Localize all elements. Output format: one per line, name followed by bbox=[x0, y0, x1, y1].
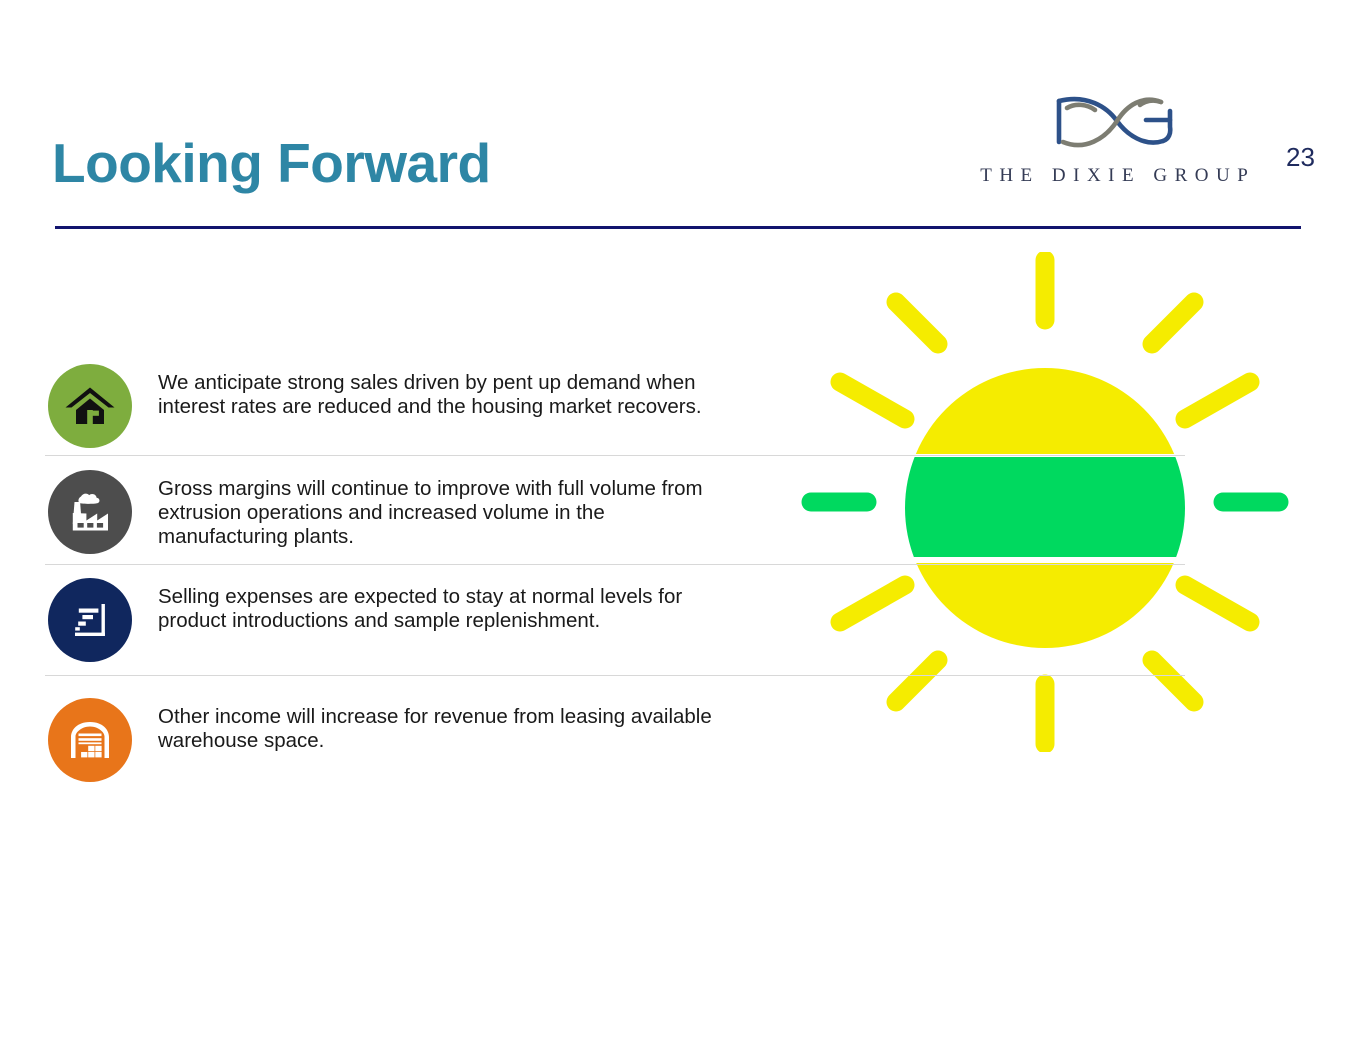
home-icon bbox=[48, 364, 132, 448]
bullet-text: We anticipate strong sales driven by pen… bbox=[158, 364, 763, 419]
page-number: 23 bbox=[1286, 142, 1315, 173]
logo-wordmark: THE DIXIE GROUP bbox=[942, 165, 1286, 187]
row-divider bbox=[45, 675, 1185, 676]
brand-logo: THE DIXIE GROUP bbox=[942, 85, 1286, 195]
bullet-row: Selling expenses are expected to stay at… bbox=[48, 578, 748, 662]
title-underline-rule bbox=[55, 226, 1301, 229]
sun-icon bbox=[795, 252, 1295, 752]
bullet-text: Selling expenses are expected to stay at… bbox=[158, 578, 748, 633]
warehouse-icon bbox=[48, 698, 132, 782]
bullet-row: We anticipate strong sales driven by pen… bbox=[48, 364, 763, 448]
bar-chart-icon bbox=[48, 578, 132, 662]
slide-canvas: Looking Forward THE DIXIE GROUP 23 bbox=[0, 0, 1365, 1055]
bullet-text: Other income will increase for revenue f… bbox=[158, 698, 718, 753]
row-divider bbox=[45, 455, 1185, 456]
bullet-row: Other income will increase for revenue f… bbox=[48, 698, 718, 782]
bullet-text: Gross margins will continue to improve w… bbox=[158, 470, 738, 550]
dixie-group-monogram-icon bbox=[1045, 85, 1175, 157]
factory-icon bbox=[48, 470, 132, 554]
bullet-row: Gross margins will continue to improve w… bbox=[48, 470, 738, 554]
page-title: Looking Forward bbox=[52, 136, 491, 191]
row-divider bbox=[45, 564, 1185, 565]
